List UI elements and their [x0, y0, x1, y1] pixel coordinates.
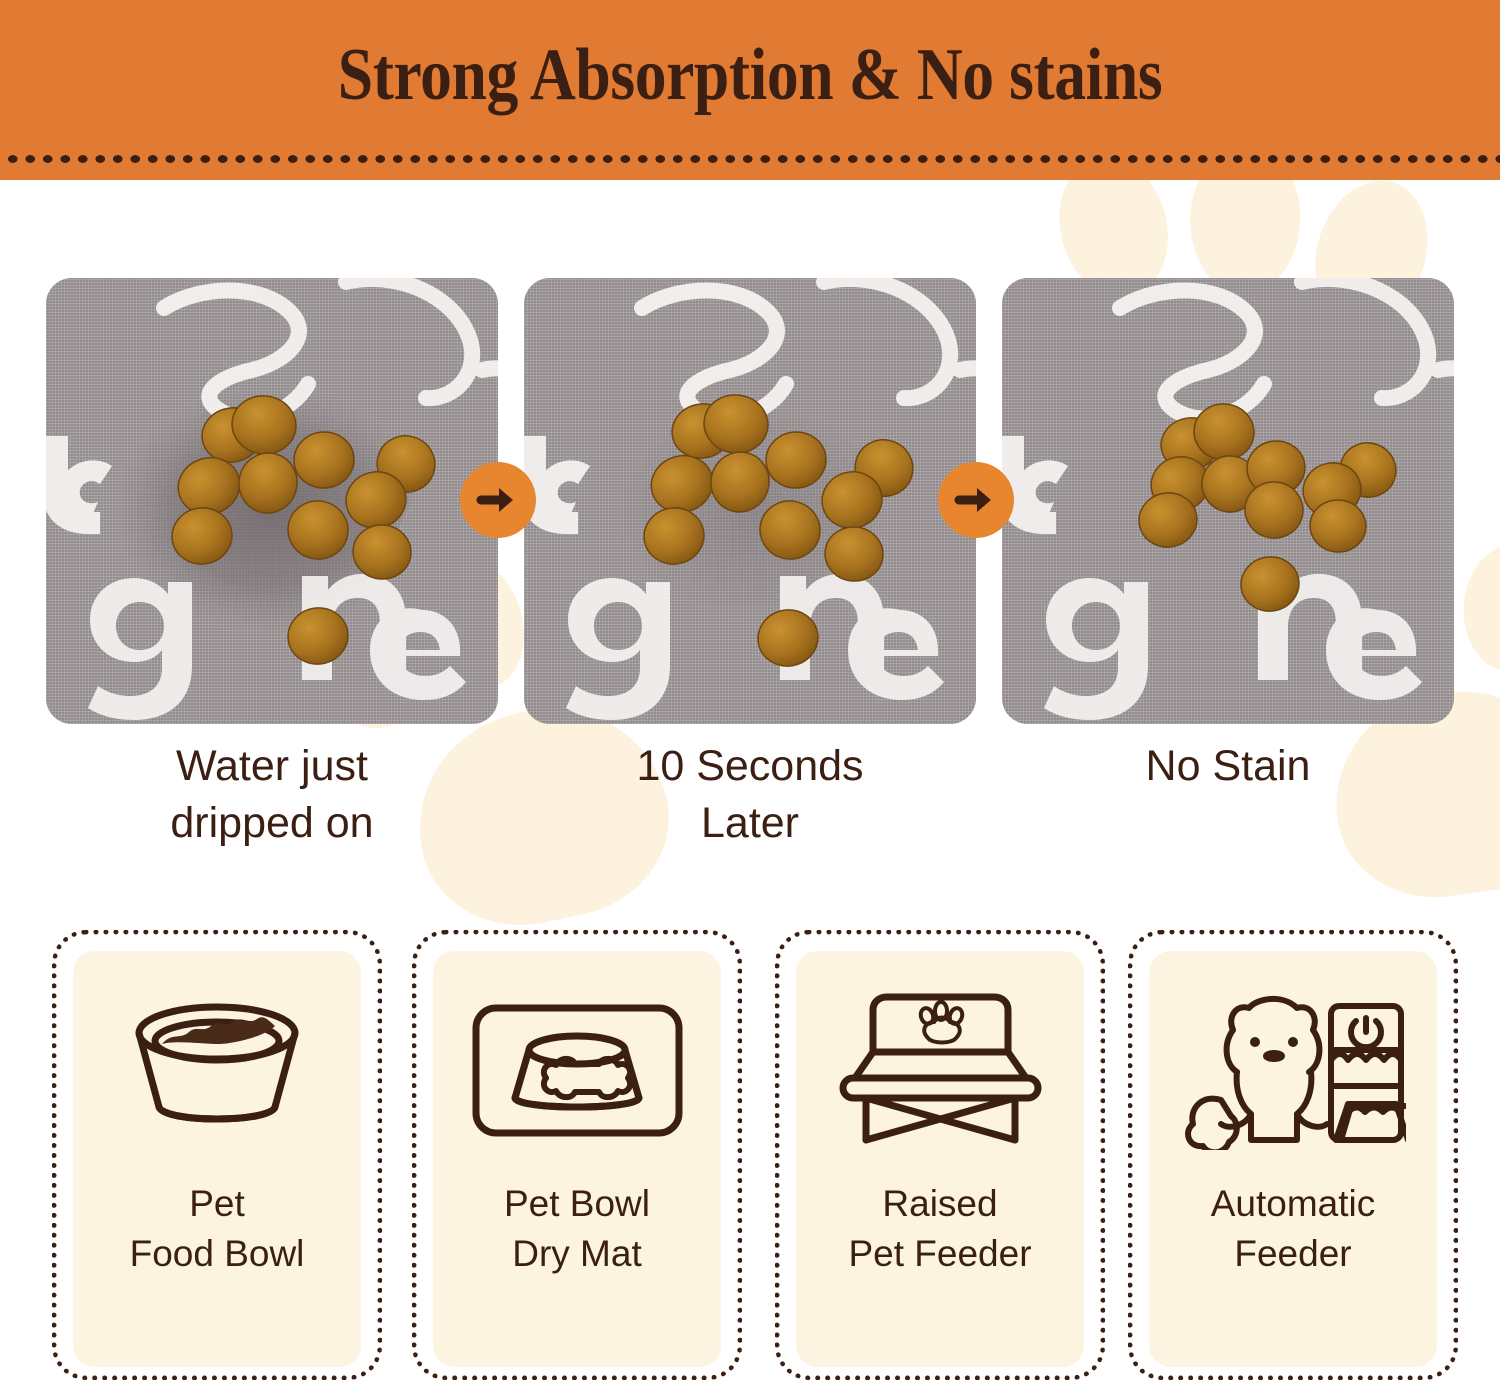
use-case-card-pet-food-bowl[interactable]: Pet Food Bowl — [52, 930, 382, 1380]
use-case-card-automatic-feeder[interactable]: Automatic Feeder — [1128, 930, 1458, 1380]
use-case-card-pet-bowl-dry-mat[interactable]: Pet Bowl Dry Mat — [412, 930, 742, 1380]
kibble-pieces-step-3 — [1002, 278, 1454, 724]
card-label: Pet Bowl Dry Mat — [504, 1179, 650, 1279]
kibble-pieces-step-2 — [524, 278, 976, 724]
card-label: Raised Pet Feeder — [848, 1179, 1031, 1279]
card-inner-panel: Pet Food Bowl — [73, 951, 361, 1367]
arrow-right-icon — [460, 462, 536, 538]
automatic-feeder-icon — [1178, 985, 1408, 1155]
demo-caption-step-2: 10 Seconds Later — [524, 738, 976, 852]
absorption-demo-row — [0, 278, 1500, 726]
raised-pet-feeder-icon — [825, 985, 1055, 1155]
use-case-card-raised-pet-feeder[interactable]: Raised Pet Feeder — [775, 930, 1105, 1380]
arrow-right-glyph — [953, 477, 999, 523]
card-inner-panel: Automatic Feeder — [1149, 951, 1437, 1367]
pet-bowl-dry-mat-icon — [462, 985, 692, 1155]
pet-food-bowl-icon — [102, 985, 332, 1155]
demo-photo-step-3 — [1002, 278, 1454, 724]
header-dotted-divider — [0, 152, 1500, 166]
arrow-right-icon — [938, 462, 1014, 538]
card-inner-panel: Pet Bowl Dry Mat — [433, 951, 721, 1367]
page-title: Strong Absorption & No stains — [105, 0, 1395, 150]
card-label: Pet Food Bowl — [130, 1179, 305, 1279]
card-label: Automatic Feeder — [1211, 1179, 1376, 1279]
demo-caption-row: Water just dripped on 10 Seconds Later N… — [0, 738, 1500, 878]
demo-photo-step-1 — [46, 278, 498, 724]
demo-caption-step-3: No Stain — [1002, 738, 1454, 795]
card-inner-panel: Raised Pet Feeder — [796, 951, 1084, 1367]
arrow-right-glyph — [475, 477, 521, 523]
kibble-pieces-step-1 — [46, 278, 498, 724]
demo-caption-step-1: Water just dripped on — [46, 738, 498, 852]
demo-photo-step-2 — [524, 278, 976, 724]
use-case-cards: Pet Food Bowl Pet Bowl Dry Mat — [0, 930, 1500, 1382]
header-banner: Strong Absorption & No stains — [0, 0, 1500, 180]
